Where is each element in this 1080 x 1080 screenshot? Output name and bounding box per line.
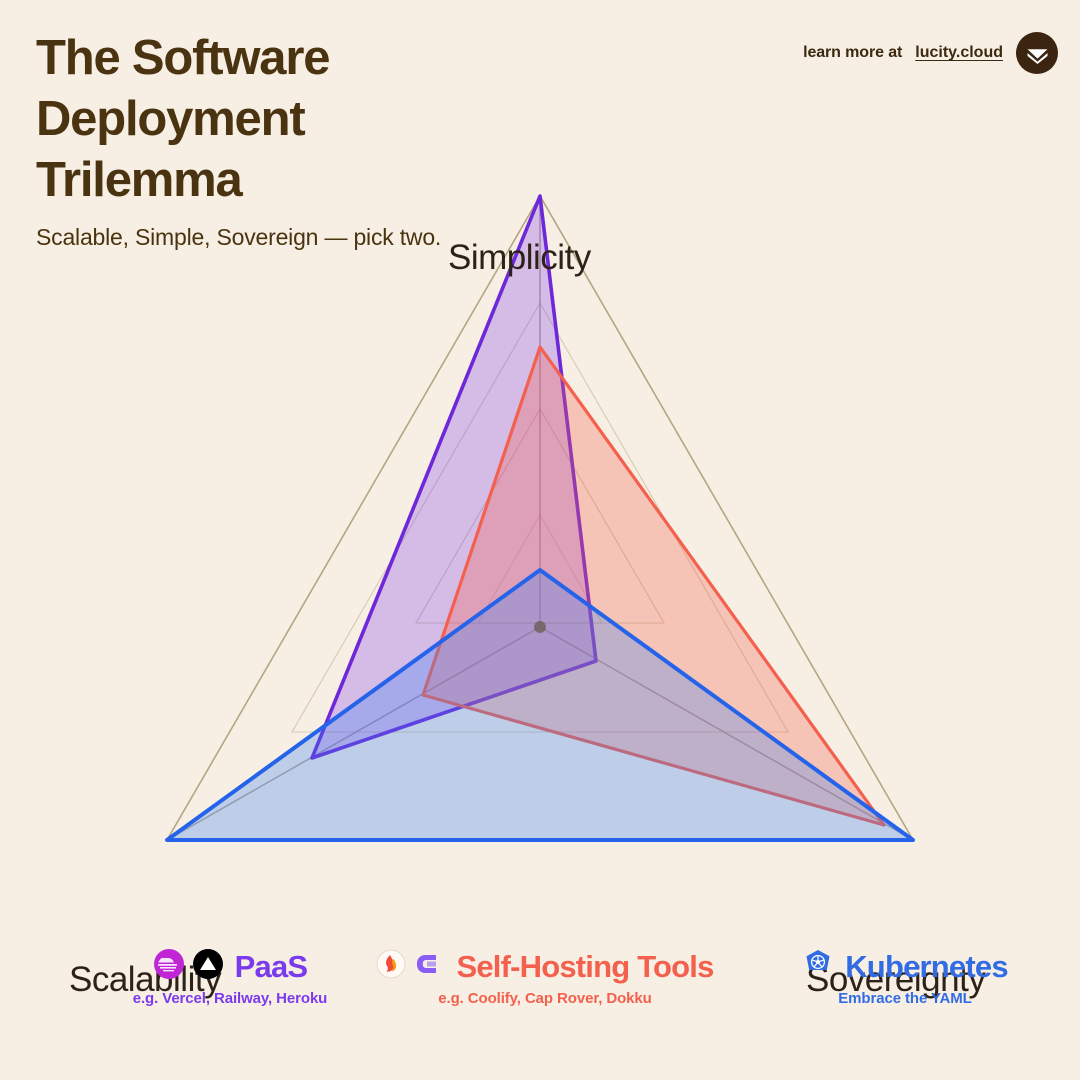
- legend-subtitle-self-hosting-tools: e.g. Coolify, Cap Rover, Dokku: [345, 990, 745, 1007]
- learn-more-label: learn more at: [803, 44, 902, 62]
- lucity-chevron-logo-icon[interactable]: [1016, 32, 1058, 74]
- legend-item-self-hosting-tools[interactable]: Self-Hosting Tools e.g. Coolify, Cap Rov…: [345, 948, 745, 1007]
- chart-legend: PaaS e.g. Vercel, Railway, Heroku Self-H…: [0, 948, 1080, 1043]
- legend-subtitle-kubernetes: Embrace the YAML: [740, 990, 1070, 1007]
- railway-icon: [153, 948, 185, 985]
- page-title-line-1: The Software: [36, 28, 556, 89]
- kubernetes-helm-icon: [802, 948, 834, 985]
- radar-chart-svg: [0, 100, 1080, 890]
- legend-head-kubernetes: Kubernetes: [740, 948, 1070, 985]
- coolify-c-icon: [413, 948, 445, 985]
- legend-title-paas: PaaS: [235, 949, 308, 985]
- legend-title-kubernetes: Kubernetes: [845, 949, 1008, 985]
- radar-chart: Simplicity Scalability Sovereignty: [0, 100, 1080, 890]
- legend-head-self-hosting-tools: Self-Hosting Tools: [345, 948, 745, 985]
- legend-title-self-hosting-tools: Self-Hosting Tools: [456, 949, 713, 985]
- legend-item-kubernetes[interactable]: Kubernetes Embrace the YAML: [740, 948, 1070, 1007]
- axis-label-simplicity: Simplicity: [448, 238, 591, 278]
- series-polygon-kubernetes[interactable]: [167, 570, 913, 840]
- caprover-flame-icon: [376, 949, 406, 984]
- radar-center-dot: [534, 621, 546, 633]
- lucity-cloud-link[interactable]: lucity.cloud: [915, 44, 1003, 62]
- learn-more-block: learn more at lucity.cloud: [803, 32, 1058, 74]
- vercel-triangle-icon: [192, 948, 224, 985]
